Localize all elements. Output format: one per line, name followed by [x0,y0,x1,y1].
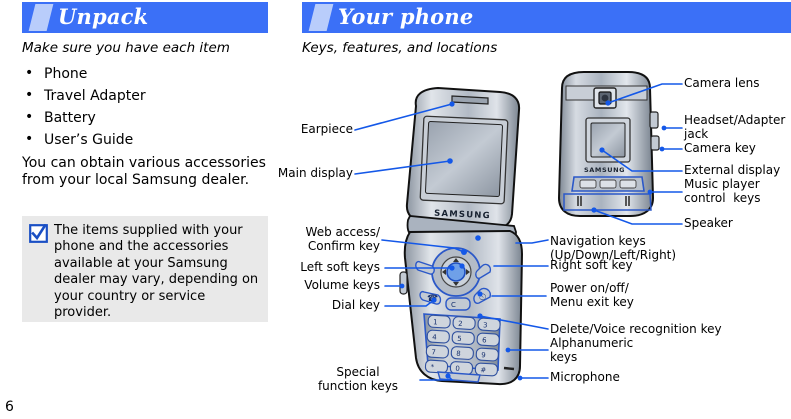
accent-slash-icon [29,4,54,31]
section-header-unpack: Unpack [22,2,268,33]
callout-music-player-control-keys: Music player control keys [684,178,760,205]
section-header-your-phone: Your phone [302,2,791,33]
svg-text:5: 5 [457,335,462,343]
right-column: Keys, features, and locations [302,40,791,419]
list-item: Battery [22,107,272,129]
unpack-paragraph: You can obtain various accessories from … [22,155,272,189]
callout-right-soft-key: Right soft key [550,259,633,273]
list-item: User’s Guide [22,129,272,151]
list-item: Phone [22,63,272,85]
manual-page: Unpack Make sure you have each item Phon… [0,0,791,419]
list-item: Travel Adapter [22,85,272,107]
callout-left-soft-keys: Left soft keys [228,261,380,275]
callout-speaker: Speaker [684,217,733,231]
left-column: Make sure you have each item Phone Trave… [22,40,272,189]
phone-diagram-figure: SAMSUNG [302,58,791,418]
section-title-unpack: Unpack [58,6,148,29]
callout-camera-lens: Camera lens [684,77,759,91]
callout-external-display: External display [684,164,780,178]
keys-features-subhead: Keys, features, and locations [302,40,497,56]
callout-earpiece: Earpiece [248,123,353,137]
callout-volume-keys: Volume keys [228,279,380,293]
svg-text:3: 3 [483,321,488,329]
callout-special-function-keys: Special function keys [298,366,418,393]
svg-text:1: 1 [433,318,438,326]
callout-dial-key: Dial key [228,299,380,313]
page-number: 6 [5,399,14,415]
section-title-your-phone: Your phone [338,6,473,29]
callout-alphanumeric-keys: Alphanumeric keys [550,337,633,364]
callout-main-display: Main display [238,167,353,181]
callout-delete-voice-recognition-key: Delete/Voice recognition key [550,323,722,337]
svg-text:8: 8 [456,350,461,358]
callout-headset-adapter-jack: Headset/Adapter jack [684,114,785,141]
svg-text:SAMSUNG: SAMSUNG [584,166,625,174]
svg-text:C: C [451,301,456,309]
callout-camera-key: Camera key [684,142,756,156]
unpack-item-list: Phone Travel Adapter Battery User’s Guid… [22,63,272,151]
accent-slash-icon [309,4,334,31]
svg-text:#: # [480,366,486,374]
callout-power-menu-exit-key: Power on/off/ Menu exit key [550,282,634,309]
callout-microphone: Microphone [550,371,620,385]
svg-text:7: 7 [431,348,436,356]
checkbox-checked-icon [29,224,48,243]
svg-text:0: 0 [455,365,460,373]
callout-web-access-confirm-key: Web access/ Confirm key [232,226,380,253]
svg-text:9: 9 [481,351,486,359]
unpack-lead-text: Make sure you have each item [22,40,272,57]
svg-text:2: 2 [458,320,463,328]
